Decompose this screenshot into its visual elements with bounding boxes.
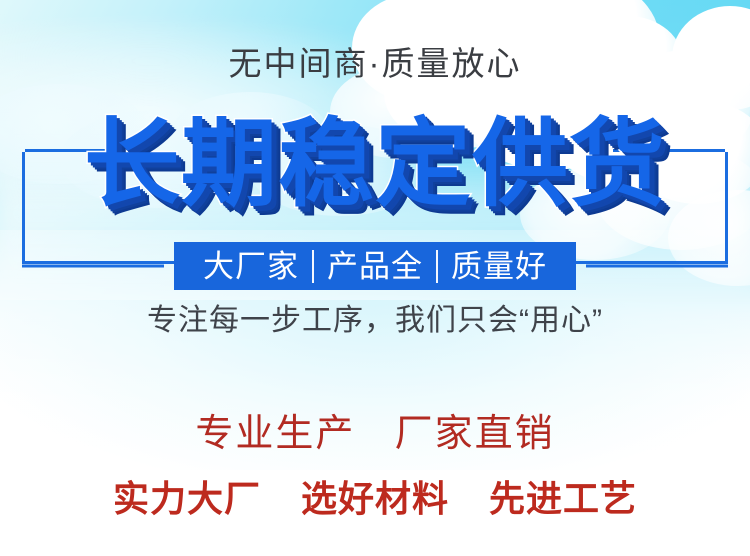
red-subheadline-row: 实力大厂 选好材料 先进工艺 (0, 478, 750, 519)
vertical-bar-separator-icon (312, 250, 314, 283)
top-subtitle: 无中间商·质量放心 (0, 44, 750, 84)
promo-banner: 无中间商·质量放心 长期稳定供货 大厂家 产品全 质量好 专注每一步工序，我们只… (0, 0, 750, 556)
claim-item-1: 大厂家 (190, 251, 312, 282)
vertical-bar-separator-icon (436, 250, 438, 283)
red-headline-part-2: 厂家直销 (395, 413, 555, 455)
claims-rule-right (586, 265, 728, 268)
red-headline-row: 专业生产 厂家直销 (0, 413, 750, 457)
claims-bar: 大厂家 产品全 质量好 (174, 242, 576, 290)
claim-item-2: 产品全 (314, 251, 436, 282)
red-subheadline-part-1: 实力大厂 (113, 478, 261, 519)
red-subheadline-part-2: 选好材料 (301, 478, 449, 519)
red-subheadline-part-3: 先进工艺 (489, 478, 637, 519)
headline-title: 长期稳定供货 (0, 117, 750, 213)
red-headline-part-1: 专业生产 (195, 413, 355, 455)
tagline-text: 专注每一步工序，我们只会“用心” (0, 303, 750, 339)
poster-content: 无中间商·质量放心 长期稳定供货 大厂家 产品全 质量好 专注每一步工序，我们只… (0, 0, 750, 556)
claim-item-3: 质量好 (438, 251, 560, 282)
claims-row: 大厂家 产品全 质量好 (0, 242, 750, 290)
claims-rule-left (22, 265, 164, 268)
